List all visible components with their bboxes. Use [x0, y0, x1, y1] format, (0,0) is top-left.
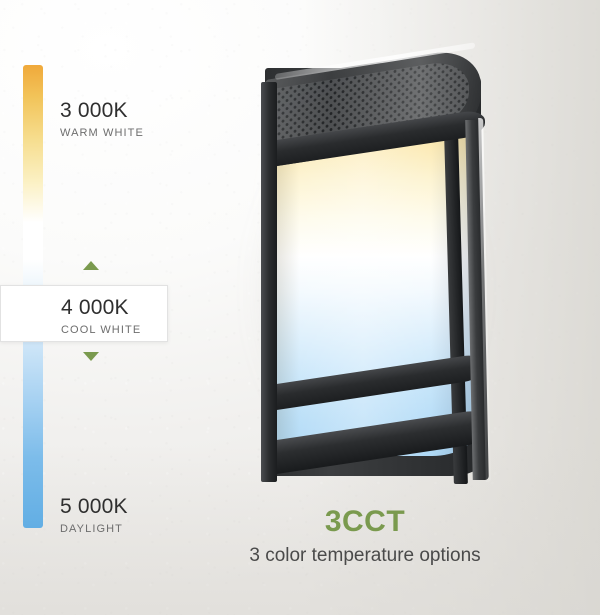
chevron-down-icon[interactable] — [83, 352, 99, 361]
caption-subtitle: 3 color temperature options — [200, 545, 530, 567]
cct-option-name: DAYLIGHT — [60, 523, 128, 535]
cct-option-cool-white-selected[interactable]: 4 000K COOL WHITE — [0, 285, 168, 342]
cct-option-name: WARM WHITE — [60, 127, 144, 139]
caption-title-wrapper: 3CCT — [230, 505, 500, 539]
caption-title: 3CCT — [230, 505, 500, 539]
chevron-up-icon[interactable] — [83, 261, 99, 270]
cct-option-daylight[interactable]: 5 000K DAYLIGHT — [60, 495, 128, 535]
product-scene: 3 000K WARM WHITE 4 000K COOL WHITE 5 00… — [0, 0, 600, 615]
cct-option-temperature: 4 000K — [61, 296, 141, 320]
lamp-frame-edge-left — [261, 82, 277, 482]
cct-option-name: COOL WHITE — [61, 324, 141, 336]
cct-option-temperature: 3 000K — [60, 99, 144, 123]
cct-option-temperature: 5 000K — [60, 495, 128, 519]
cct-option-warm-white[interactable]: 3 000K WARM WHITE — [60, 99, 144, 139]
wall-sconce-product-image — [253, 60, 503, 485]
